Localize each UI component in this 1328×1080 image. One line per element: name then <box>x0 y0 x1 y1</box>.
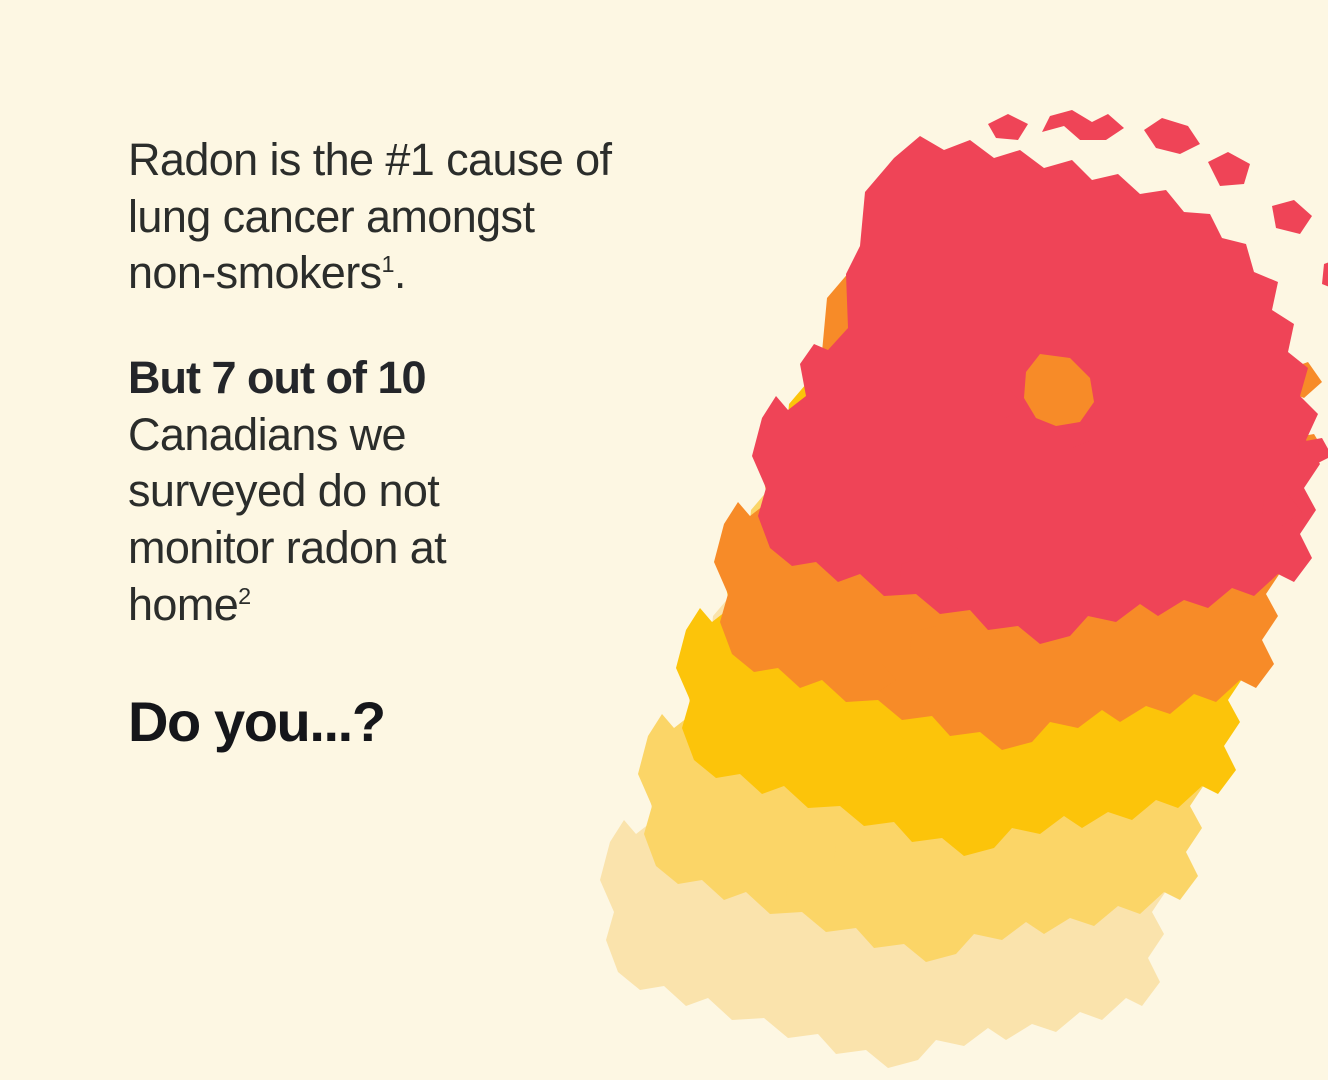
map-layer-1-top <box>688 96 1328 656</box>
canada-silhouette-icon <box>688 96 1328 656</box>
footnote-ref-1: 1 <box>382 251 394 277</box>
infographic-canvas: Radon is the #1 cause of lung cancer amo… <box>0 0 1328 935</box>
stat-body: Canadians we surveyed do not monitor rad… <box>128 409 446 630</box>
headline-do-you: Do you...? <box>128 694 385 750</box>
canada-map-stack <box>536 96 1296 886</box>
stat-paragraph: But 7 out of 10 Canadians we surveyed do… <box>128 350 548 633</box>
lead-paragraph-period: . <box>394 247 406 298</box>
footnote-ref-2: 2 <box>238 583 250 609</box>
stat-emphasis: But 7 out of 10 <box>128 352 426 403</box>
